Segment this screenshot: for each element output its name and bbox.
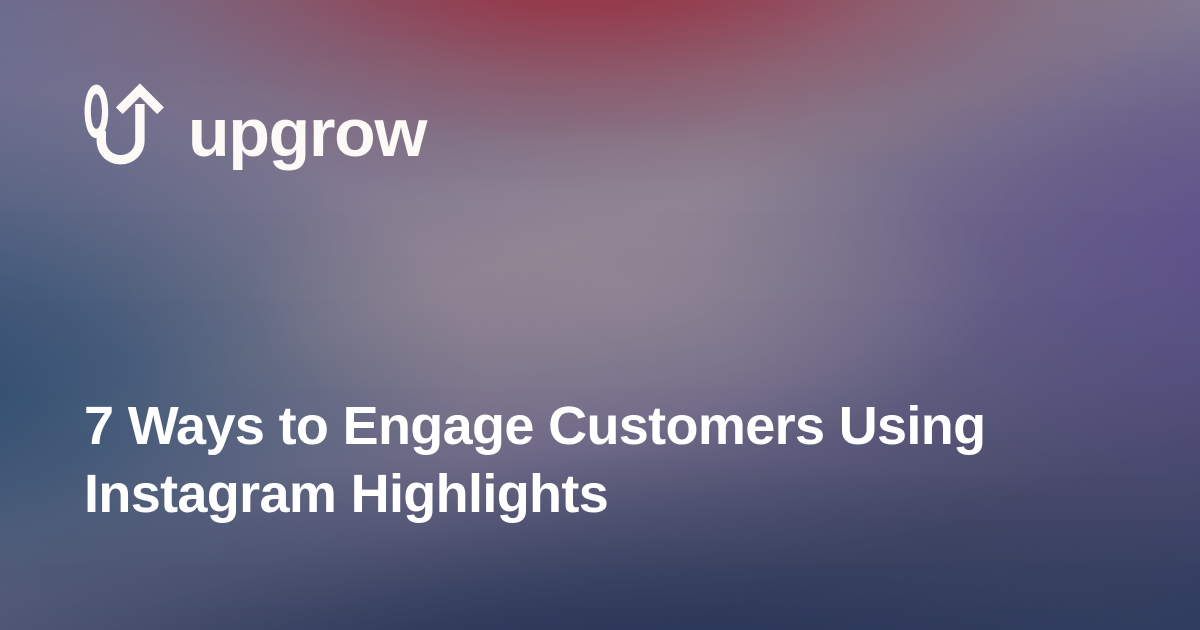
og-share-card: upgrow 7 Ways to Engage Customers Using … [0,0,1200,630]
headline-title: 7 Ways to Engage Customers Using Instagr… [84,392,1124,528]
brand-logo[interactable]: upgrow [84,82,426,170]
upgrow-arrow-logo-mark-icon [84,82,166,170]
brand-wordmark: upgrow [188,99,426,167]
